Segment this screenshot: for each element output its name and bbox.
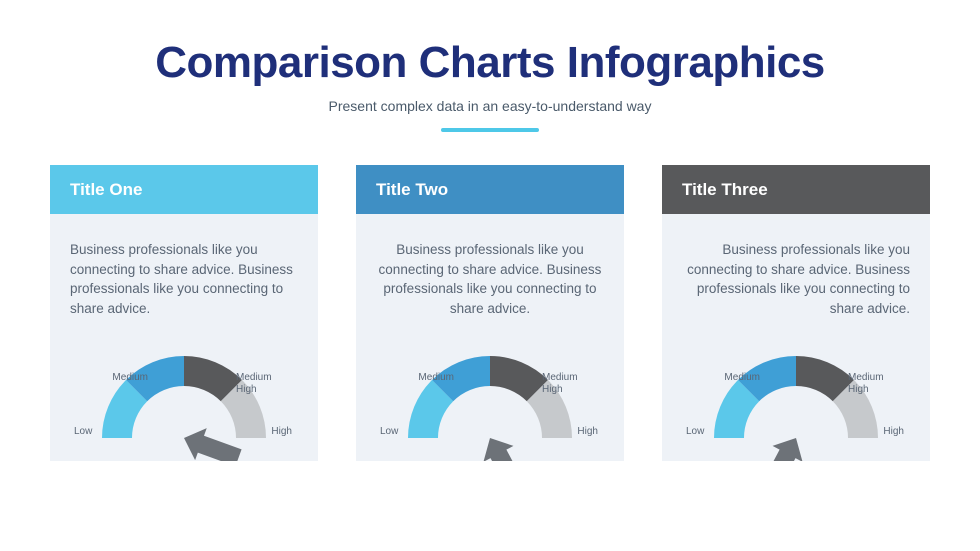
card-one-body: Business professionals like you connecti… bbox=[50, 214, 318, 318]
card-two[interactable]: Title Two Business professionals like yo… bbox=[356, 165, 624, 461]
card-two-header: Title Two bbox=[356, 165, 624, 214]
card-three-title: Title Three bbox=[682, 180, 768, 200]
card-three-header: Title Three bbox=[662, 165, 930, 214]
card-two-text: Business professionals like you connecti… bbox=[376, 240, 604, 318]
gauge-one-label-low: Low bbox=[74, 426, 114, 438]
gauge-three-label-high: High bbox=[864, 426, 904, 438]
card-three-body: Business professionals like you connecti… bbox=[662, 214, 930, 318]
gauge-one-label-medium-high: Medium High bbox=[236, 372, 296, 396]
card-two-gauge: Medium Medium High Low High bbox=[356, 326, 624, 461]
gauge-one-needle bbox=[178, 422, 244, 461]
gauge-three-label-medium: Medium bbox=[706, 372, 760, 384]
gauge-two-label-high: High bbox=[558, 426, 598, 438]
gauge-two-label-medium: Medium bbox=[400, 372, 454, 384]
gauge-two-label-low: Low bbox=[380, 426, 420, 438]
card-three-gauge: Medium Medium High Low High bbox=[662, 326, 930, 461]
card-one-title: Title One bbox=[70, 180, 142, 200]
gauge-two-label-medium-high: Medium High bbox=[542, 372, 602, 396]
gauge-three-label-low: Low bbox=[686, 426, 726, 438]
gauge-one-label-high: High bbox=[252, 426, 292, 438]
gauge-one-label-medium: Medium bbox=[94, 372, 148, 384]
card-three[interactable]: Title Three Business professionals like … bbox=[662, 165, 930, 461]
card-three-text: Business professionals like you connecti… bbox=[682, 240, 910, 318]
page-title: Comparison Charts Infographics bbox=[0, 38, 980, 88]
card-one-gauge: Medium Medium High Low High bbox=[50, 326, 318, 461]
gauge-three-label-medium-high: Medium High bbox=[848, 372, 908, 396]
card-one-header: Title One bbox=[50, 165, 318, 214]
title-divider bbox=[441, 128, 539, 132]
gauge-three-needle bbox=[754, 430, 811, 461]
cards-container: Title One Business professionals like yo… bbox=[50, 165, 930, 461]
page-subtitle: Present complex data in an easy-to-under… bbox=[0, 98, 980, 114]
card-one-text: Business professionals like you connecti… bbox=[70, 240, 298, 318]
gauge-two-needle bbox=[475, 430, 532, 461]
card-two-title: Title Two bbox=[376, 180, 448, 200]
card-two-body: Business professionals like you connecti… bbox=[356, 214, 624, 318]
card-one[interactable]: Title One Business professionals like yo… bbox=[50, 165, 318, 461]
slide: Comparison Charts Infographics Present c… bbox=[0, 0, 980, 551]
